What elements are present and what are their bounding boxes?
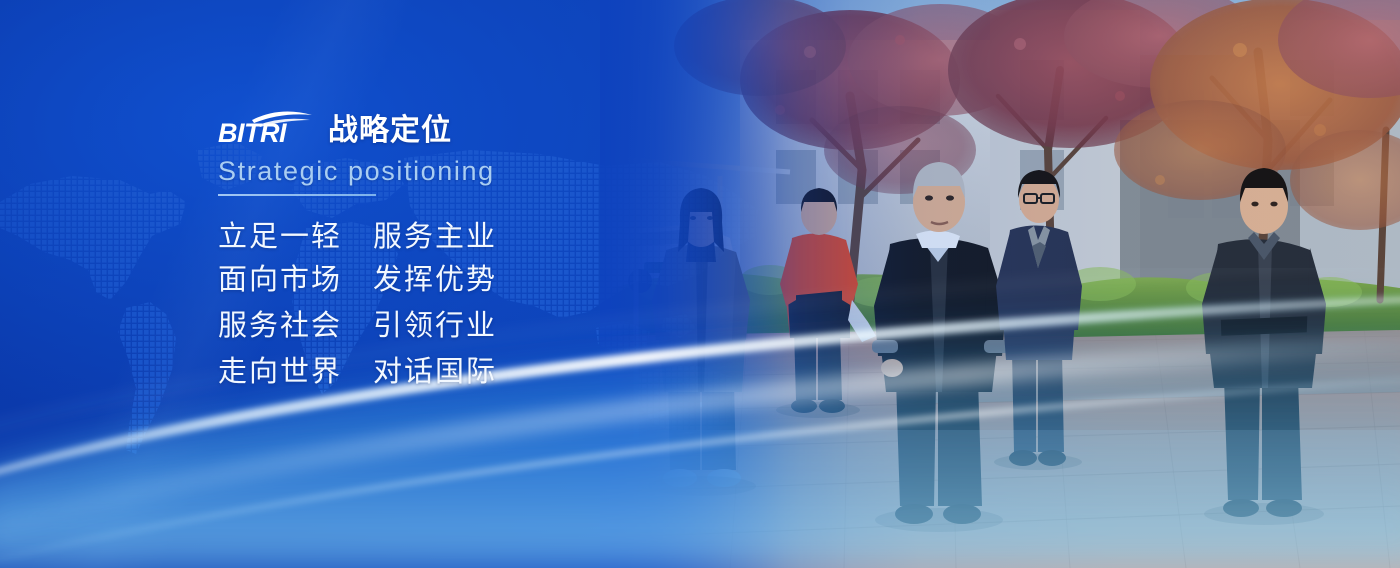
slogan-line-4: 走向世界 对话国际 <box>218 351 648 394</box>
slogan-list: 立足一轻 服务主业 面向市场 发挥优势 服务社会 引领行业 走向世界 对话国际 <box>218 216 648 394</box>
heading-en: Strategic positioning <box>218 157 648 187</box>
brand-lockup: BITRI 战略定位 <box>218 106 648 148</box>
leadership-walking-tour-photo <box>600 0 1400 568</box>
heading-zh: 战略定位 <box>328 116 452 148</box>
banner-text-block: BITRI 战略定位 Strategic positioning 立足一轻 服务… <box>218 106 648 394</box>
bitri-logo: BITRI <box>218 108 318 148</box>
heading-divider <box>218 194 376 196</box>
slogan-line-3: 服务社会 引领行业 <box>218 305 648 348</box>
strategic-positioning-banner: BITRI 战略定位 Strategic positioning 立足一轻 服务… <box>0 0 1400 568</box>
slogan-line-2: 面向市场 发挥优势 <box>218 259 648 302</box>
slogan-line-1: 立足一轻 服务主业 <box>218 216 648 259</box>
svg-text:BITRI: BITRI <box>218 118 287 148</box>
